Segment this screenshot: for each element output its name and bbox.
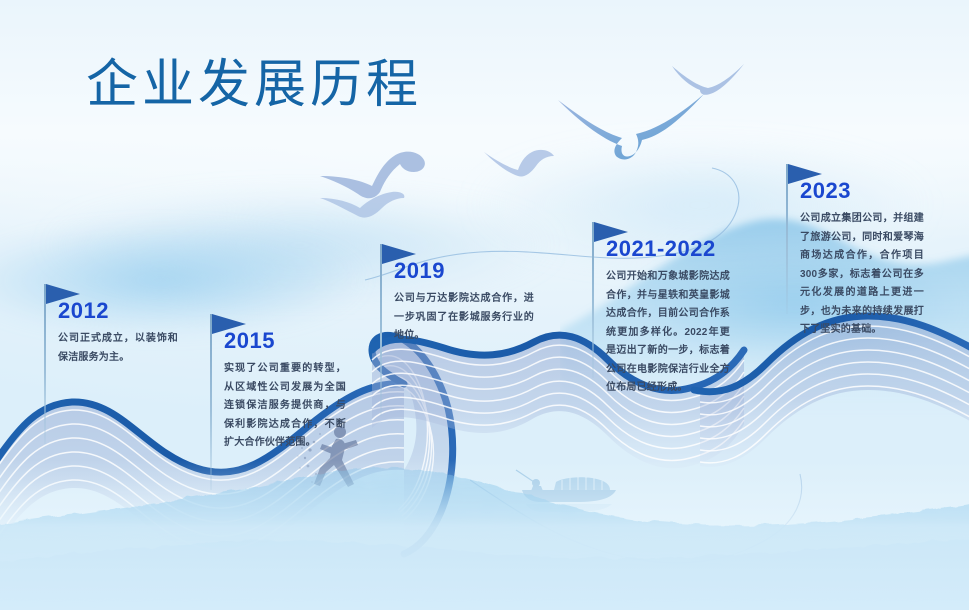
milestone-year: 2021-2022 xyxy=(606,236,716,262)
milestone-2023[interactable]: 2023 公司成立集团公司，并组建了旅游公司，同时和爱琴海商场达成合作，合作项目… xyxy=(786,164,966,344)
milestone-2019[interactable]: 2019 公司与万达影院达成合作，进一步巩固了在影城服务行业的地位。 xyxy=(380,244,570,434)
flag-pole xyxy=(380,244,382,416)
flag-pole xyxy=(210,314,212,490)
milestone-2012[interactable]: 2012 公司正式成立，以装饰和保洁服务为主。 xyxy=(44,284,214,454)
milestone-2021-2022[interactable]: 2021-2022 公司开始和万象城影院达成合作，并与星轶和英皇影城达成合作，目… xyxy=(592,222,782,402)
milestone-2015[interactable]: 2015 实现了公司重要的转型，从区域性公司发展为全国连锁保洁服务提供商，与保利… xyxy=(210,314,390,494)
milestone-year: 2019 xyxy=(394,258,445,284)
milestone-year: 2023 xyxy=(800,178,851,204)
milestone-description: 公司正式成立，以装饰和保洁服务为主。 xyxy=(58,330,178,367)
flag-pole xyxy=(44,284,46,444)
milestone-description: 公司成立集团公司，并组建了旅游公司，同时和爱琴海商场达成合作，合作项目300多家… xyxy=(800,210,924,340)
page-title: 企业发展历程 xyxy=(86,58,422,113)
flag-pole xyxy=(592,222,594,378)
milestone-description: 实现了公司重要的转型，从区域性公司发展为全国连锁保洁服务提供商，与保利影院达成合… xyxy=(224,360,346,453)
milestone-description: 公司与万达影院达成合作，进一步巩固了在影城服务行业的地位。 xyxy=(394,290,534,346)
flag-pole xyxy=(786,164,788,314)
infographic-canvas: 企业发展历程 2012 公司正式成立，以装饰和保洁服务为主。 2015 实现了公… xyxy=(0,0,969,610)
milestone-description: 公司开始和万象城影院达成合作，并与星轶和英皇影城达成合作，目前公司合作系统更加多… xyxy=(606,268,730,398)
milestone-year: 2015 xyxy=(224,328,275,354)
milestone-year: 2012 xyxy=(58,298,109,324)
